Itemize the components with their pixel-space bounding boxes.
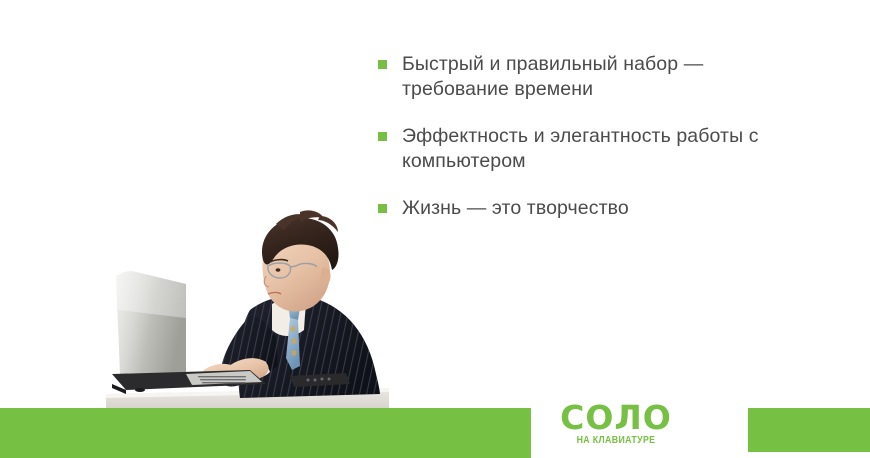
list-item: Жизнь — это творчество: [378, 196, 778, 221]
bullet-text: Эффектность и элегантность работы с комп…: [402, 124, 778, 174]
list-item: Быстрый и правильный набор — требование …: [378, 52, 778, 102]
presentation-slide: Быстрый и правильный набор — требование …: [0, 0, 870, 458]
green-square-bullet-icon: [378, 204, 387, 213]
footer-bar-right: [748, 408, 870, 452]
logo-subtitle: НА КЛАВИАТУРЕ: [563, 435, 669, 447]
bullet-list: Быстрый и правильный набор — требование …: [378, 52, 778, 221]
green-square-bullet-icon: [378, 60, 387, 69]
eye: [276, 268, 281, 271]
list-item: Эффектность и элегантность работы с комп…: [378, 124, 778, 174]
photo-man-typing-on-laptop: [100, 198, 395, 410]
laptop-foot: [135, 388, 145, 392]
photo-illustration: [100, 198, 395, 410]
bullet-text: Жизнь — это творчество: [402, 196, 778, 221]
logo-wordmark: СОЛО: [556, 401, 676, 434]
laptop-keyboard-keys: [198, 376, 246, 383]
bullet-text: Быстрый и правильный набор — требование …: [402, 52, 778, 102]
logo-solo-na-klaviature: СОЛО НА КЛАВИАТУРЕ: [556, 401, 676, 451]
footer-bar-left: [0, 408, 531, 458]
green-square-bullet-icon: [378, 132, 387, 141]
